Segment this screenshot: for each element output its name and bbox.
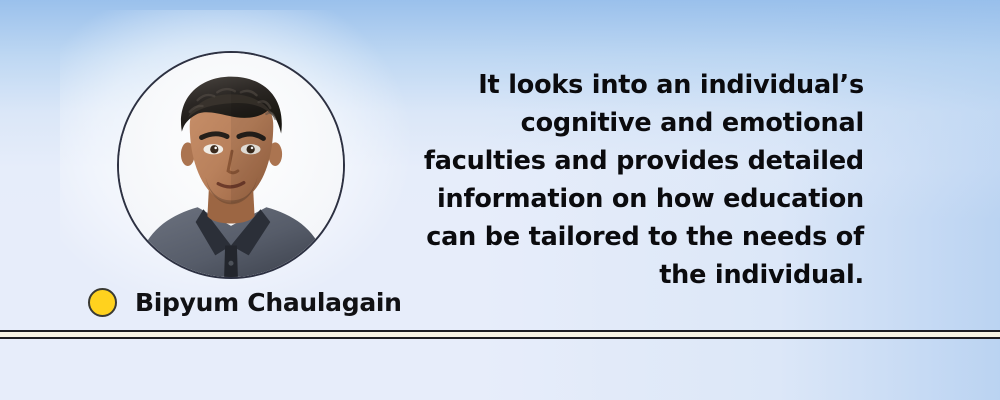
divider-line-bottom: [0, 337, 1000, 339]
author-name: Bipyum Chaulagain: [135, 288, 402, 317]
portrait-illustration: [119, 53, 343, 277]
quote-text: It looks into an individual’s cognitive …: [408, 66, 864, 294]
divider-double-rule: [0, 330, 1000, 339]
filled-circle-icon: [88, 288, 117, 317]
author-portrait: [117, 51, 345, 279]
testimonial-slide: It looks into an individual’s cognitive …: [0, 0, 1000, 400]
attribution: Bipyum Chaulagain: [88, 288, 402, 317]
